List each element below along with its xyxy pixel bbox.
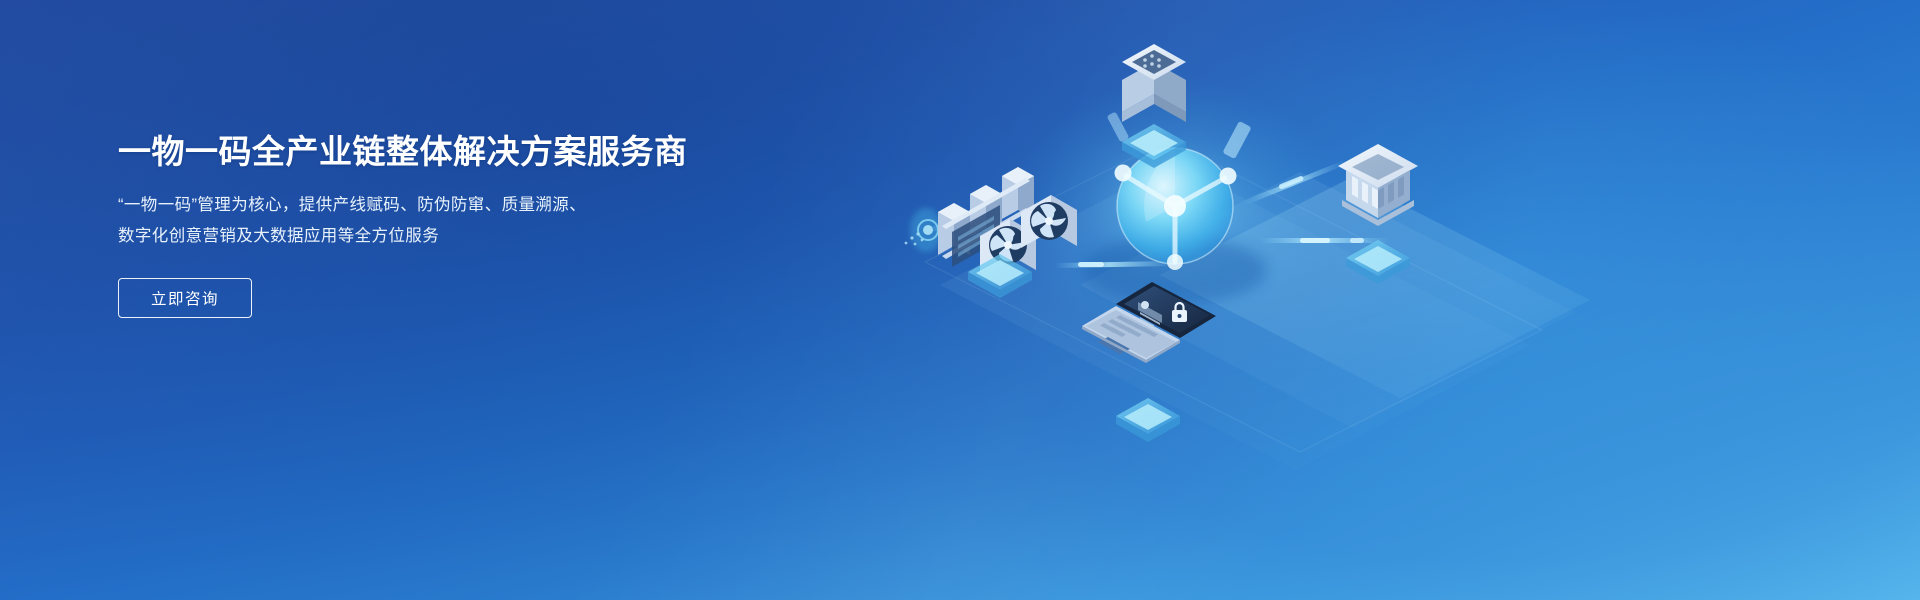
subtitle-line-1: “一物一码”管理为核心，提供产线赋码、防伪防窜、质量溯源、 <box>118 190 818 221</box>
server-rack-fans-icon <box>905 167 1077 272</box>
laptop-security-icon <box>1082 282 1216 363</box>
hero-copy: 一物一码全产业链整体解决方案服务商 “一物一码”管理为核心，提供产线赋码、防伪防… <box>118 132 818 318</box>
pos-terminal-icon <box>1122 44 1186 122</box>
hero-banner: 一物一码全产业链整体解决方案服务商 “一物一码”管理为核心，提供产线赋码、防伪防… <box>0 0 1920 600</box>
platform-base <box>925 140 1590 470</box>
data-links <box>925 111 1390 268</box>
page-title: 一物一码全产业链整体解决方案服务商 <box>118 132 818 172</box>
node-pad-laptop <box>1116 398 1180 442</box>
hero-subtitle: “一物一码”管理为核心，提供产线赋码、防伪防窜、质量溯源、 数字化创意营销及大数… <box>118 190 818 252</box>
hero-illustration <box>830 0 1650 600</box>
bank-building-icon <box>1338 144 1418 226</box>
network-globe-icon <box>1115 148 1237 270</box>
node-pad-bank <box>1346 240 1410 284</box>
consult-now-button[interactable]: 立即咨询 <box>118 278 252 318</box>
node-pad-pos <box>1122 124 1186 168</box>
subtitle-line-2: 数字化创意营销及大数据应用等全方位服务 <box>118 221 818 252</box>
node-pad-server <box>968 254 1032 298</box>
